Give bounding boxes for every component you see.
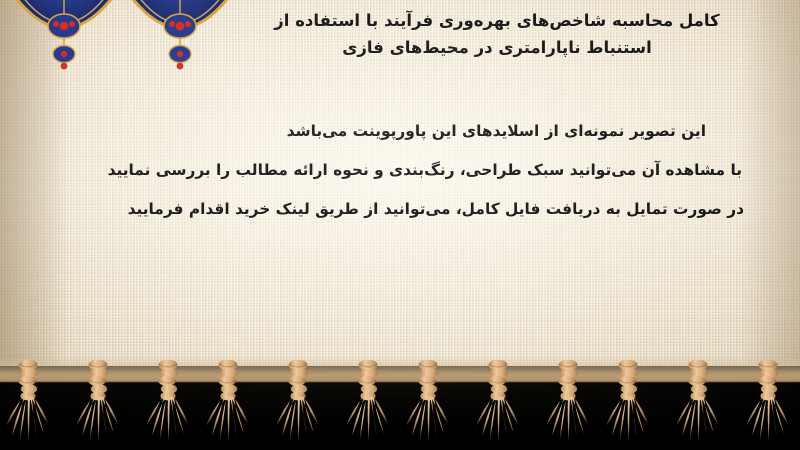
tassel	[672, 360, 728, 446]
tassel	[539, 360, 595, 446]
tassel	[205, 360, 261, 446]
tassel	[405, 360, 461, 446]
tassel	[5, 360, 61, 446]
tassel	[339, 360, 395, 446]
body-line-3: در صورت تمایل به دریافت فایل کامل، می‌تو…	[30, 190, 748, 229]
slide-body: این تصویر نمونه‌ای از اسلایدهای این پاور…	[30, 112, 748, 228]
persian-medallion-right-icon	[122, 0, 238, 104]
tassel	[139, 360, 195, 446]
title-line-2: استنباط ناپارامتری در محیط‌های فازی	[250, 35, 744, 62]
tassel	[472, 360, 528, 446]
tassel	[739, 360, 795, 446]
tassel	[272, 360, 328, 446]
body-line-2: با مشاهده آن می‌توانید سبک طراحی، رنگ‌بن…	[30, 151, 748, 190]
body-line-1: این تصویر نمونه‌ای از اسلایدهای این پاور…	[30, 112, 748, 151]
title-line-1: کامل محاسبه شاخص‌های بهره‌وری فرآیند با …	[250, 8, 744, 35]
slide-canvas: کامل محاسبه شاخص‌های بهره‌وری فرآیند با …	[0, 0, 800, 450]
tassel	[72, 360, 128, 446]
carpet-fringe	[0, 356, 800, 450]
tassel	[605, 360, 661, 446]
slide-title: کامل محاسبه شاخص‌های بهره‌وری فرآیند با …	[250, 8, 744, 61]
persian-medallion-left-icon	[6, 0, 122, 104]
